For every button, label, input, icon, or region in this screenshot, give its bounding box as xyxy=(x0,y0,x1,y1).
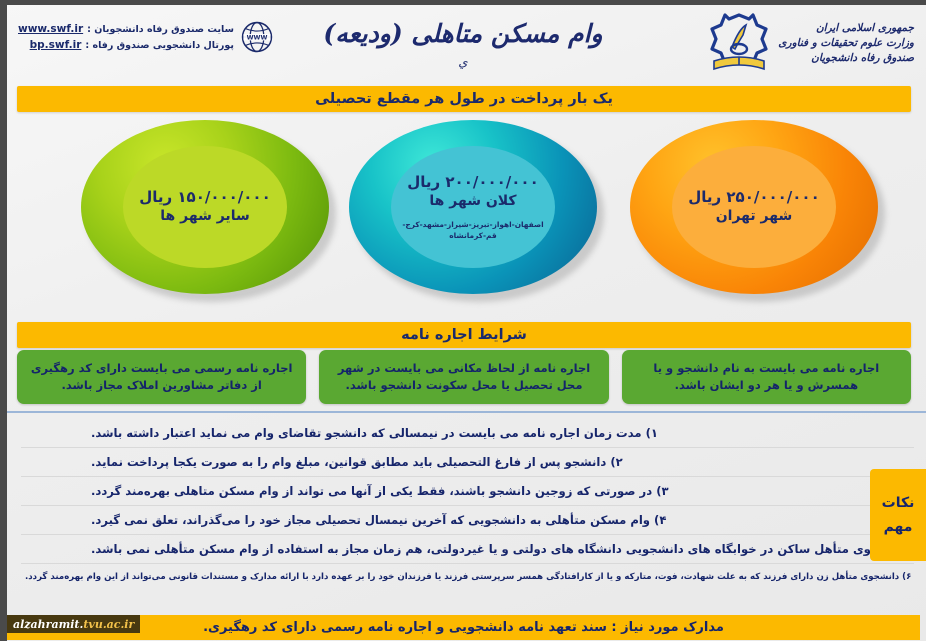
circle-outer-ring: ۲۰۰/۰۰۰/۰۰۰ ریال کلان شهر ها اصفهان-اهوا… xyxy=(349,120,597,294)
logo-line-country: جمهوری اسلامی ایران xyxy=(816,22,914,34)
amount-label: کلان شهر ها xyxy=(429,193,516,211)
lease-condition-boxes: اجاره نامه می بایست به نام دانشجو و یا ه… xyxy=(17,350,911,404)
amount-value: ۱۵۰/۰۰۰/۰۰۰ ریال xyxy=(139,188,271,207)
lease-condition-box: اجاره نامه از لحاظ مکانی می بایست در شهر… xyxy=(319,350,608,404)
circle-outer-ring: ۲۵۰/۰۰۰/۰۰۰ ریال شهر تهران xyxy=(630,120,878,294)
top-edge-strip xyxy=(0,0,926,5)
amount-value: ۲۵۰/۰۰۰/۰۰۰ ریال xyxy=(688,188,820,207)
note-item: ۳) در صورتی که زوجین دانشجو باشند، فقط ی… xyxy=(21,477,914,506)
required-documents-bar: مدارک مورد نیاز : سند تعهد نامه دانشجویی… xyxy=(7,615,920,640)
amount-label: شهر تهران xyxy=(716,208,793,226)
metropolis-city-list: اصفهان-اهواز-تبریز-شیراز-مشهد-کرج-قم-کرم… xyxy=(398,219,548,241)
important-notes-section: نکات مهم ۱) مدت زمان اجاره نامه می بایست… xyxy=(7,415,926,600)
amount-label: سایر شهر ها xyxy=(160,208,249,226)
note-item: ۱) مدت زمان اجاره نامه می بایست در نیمسا… xyxy=(21,419,914,448)
amount-circle-metropolis[interactable]: ۲۰۰/۰۰۰/۰۰۰ ریال کلان شهر ها اصفهان-اهوا… xyxy=(344,118,612,308)
banner-one-time-payment: یک بار پرداخت در طول هر مقطع تحصیلی xyxy=(17,86,911,112)
circle-inner-disc: ۲۵۰/۰۰۰/۰۰۰ ریال شهر تهران xyxy=(672,146,836,268)
banner-lease-conditions: شرایط اجاره نامه xyxy=(17,322,911,348)
note-item: ۲) دانشجو پس از فارغ التحصیلی باید مطابق… xyxy=(21,448,914,477)
note-item: ۶) دانشجوی متأهل زن دارای فرزند که به عل… xyxy=(21,564,914,590)
lease-condition-box: اجاره نامه می بایست به نام دانشجو و یا ه… xyxy=(622,350,911,404)
amount-circle-other-cities[interactable]: ۱۵۰/۰۰۰/۰۰۰ ریال سایر شهر ها xyxy=(76,118,344,308)
amount-circle-tehran[interactable]: ۲۵۰/۰۰۰/۰۰۰ ریال شهر تهران xyxy=(625,118,893,308)
infographic-page: WWW سایت صندوق رفاه دانشجویان : www.swf.… xyxy=(0,0,926,641)
notes-list: ۱) مدت زمان اجاره نامه می بایست در نیمسا… xyxy=(21,419,914,590)
watermark-suffix: tvu.ac.ir xyxy=(83,618,134,631)
loan-amount-circles: ۱۵۰/۰۰۰/۰۰۰ ریال سایر شهر ها ۲۰۰/۰۰۰/۰۰۰… xyxy=(0,118,926,314)
circle-outer-ring: ۱۵۰/۰۰۰/۰۰۰ ریال سایر شهر ها xyxy=(81,120,329,294)
page-header: WWW سایت صندوق رفاه دانشجویان : www.swf.… xyxy=(0,5,926,83)
notes-tab-line2: مهم xyxy=(884,519,913,535)
logo-line-ministry: وزارت علوم تحقیقات و فناوری xyxy=(778,37,914,49)
circle-inner-disc: ۲۰۰/۰۰۰/۰۰۰ ریال کلان شهر ها اصفهان-اهوا… xyxy=(391,146,555,268)
ministry-logo: جمهوری اسلامی ایران وزارت علوم تحقیقات و… xyxy=(708,11,914,75)
note-item: ۴) وام مسکن متأهلی به دانشجویی که آخرین … xyxy=(21,506,914,535)
source-watermark: alzahramit.tvu.ac.ir xyxy=(7,615,140,633)
notes-tab-line1: نکات xyxy=(882,495,915,511)
left-edge-strip xyxy=(0,0,7,641)
watermark-prefix: alzahramit. xyxy=(13,618,83,631)
page-footer: مدارک مورد نیاز : سند تعهد نامه دانشجویی… xyxy=(0,608,926,641)
important-notes-tab: نکات مهم xyxy=(870,469,926,561)
amount-value: ۲۰۰/۰۰۰/۰۰۰ ریال xyxy=(407,173,539,192)
lease-condition-box: اجاره نامه رسمی می بایست دارای کد رهگیری… xyxy=(17,350,306,404)
logo-line-fund: صندوق رفاه دانشجویان xyxy=(811,52,914,64)
circle-inner-disc: ۱۵۰/۰۰۰/۰۰۰ ریال سایر شهر ها xyxy=(123,146,287,268)
note-item: ۵) دانشجوی متأهل ساکن در خوابگاه های دان… xyxy=(21,535,914,564)
section-divider xyxy=(7,411,926,413)
ministry-logo-text: جمهوری اسلامی ایران وزارت علوم تحقیقات و… xyxy=(778,22,914,64)
ministry-emblem-icon xyxy=(708,11,770,75)
